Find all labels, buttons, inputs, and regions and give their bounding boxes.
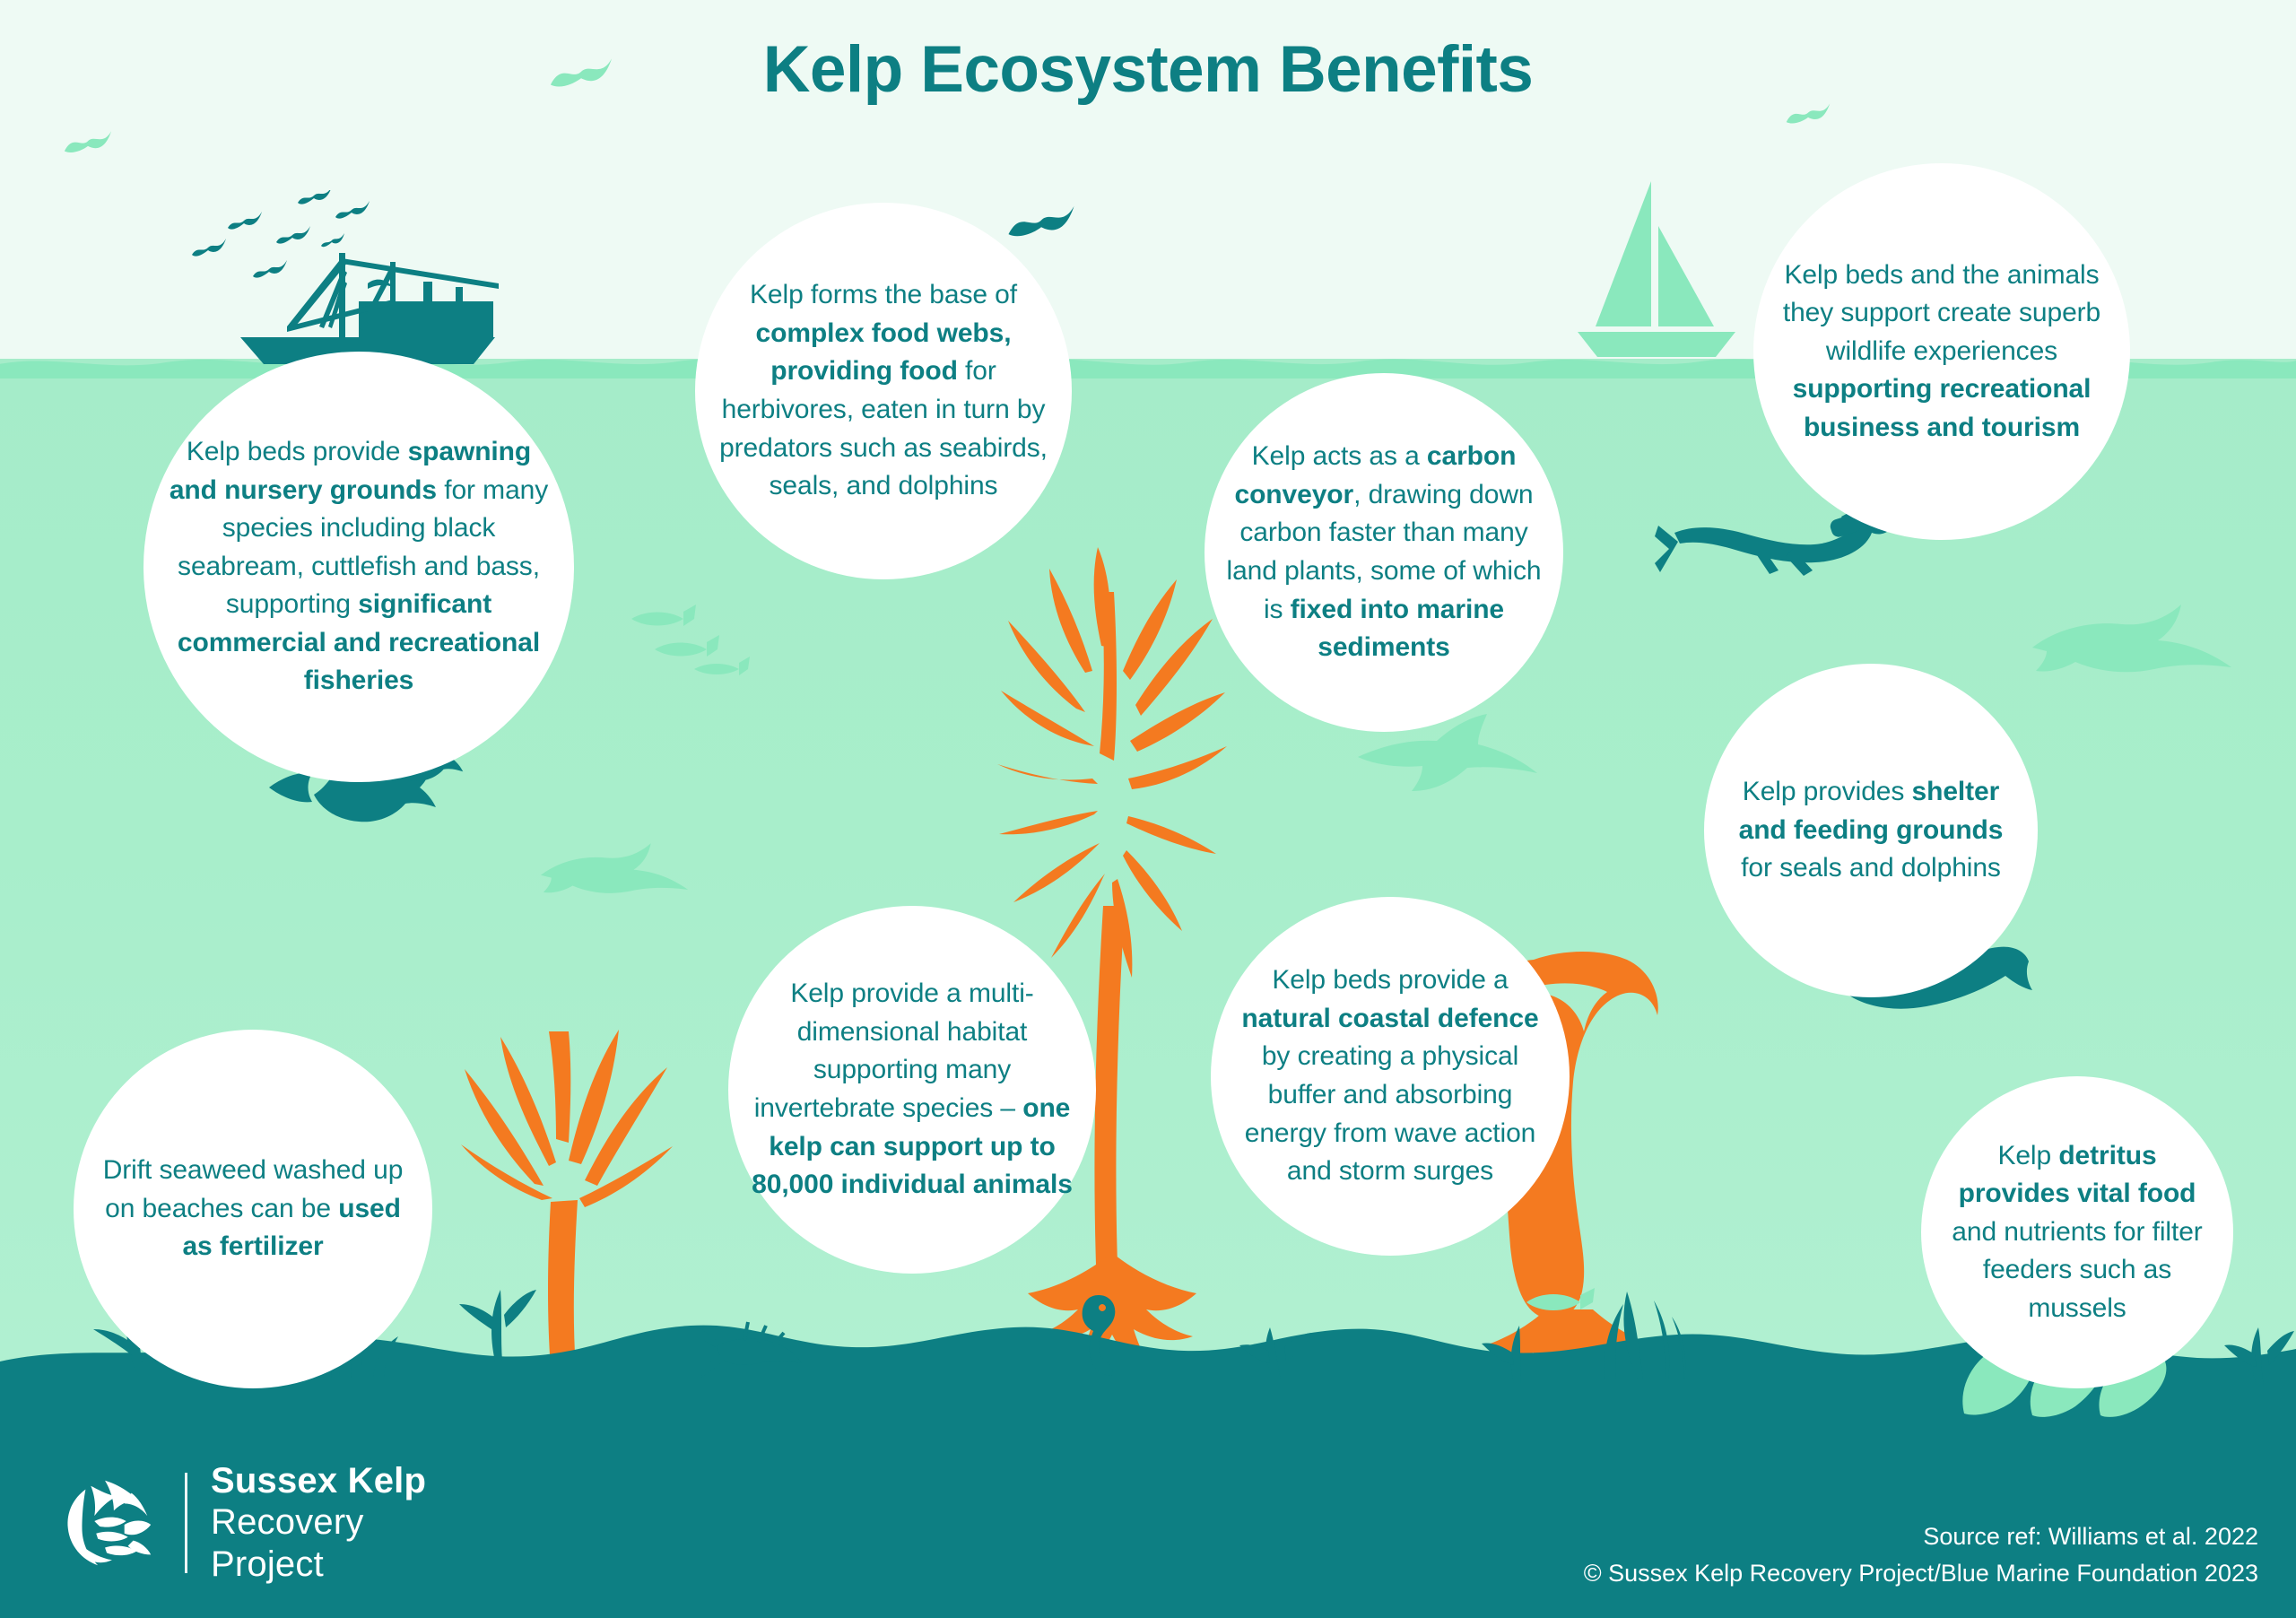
bubble-text: Kelp provide a multi-dimensional habitat… [750, 975, 1074, 1205]
bubble-text: Kelp provides shelter and feeding ground… [1726, 773, 2016, 888]
bubble-shelter-feeding: Kelp provides shelter and feeding ground… [1704, 664, 2038, 997]
bubble-recreation-tourism: Kelp beds and the animals they support c… [1753, 163, 2130, 540]
brand-logo: Sussex Kelp Recovery Project [56, 1460, 426, 1585]
logo-line-1: Sussex Kelp [211, 1460, 426, 1501]
copyright: © Sussex Kelp Recovery Project/Blue Mari… [1584, 1555, 2258, 1592]
bubble-detritus-filter-feeders: Kelp detritus provides vital food and nu… [1921, 1076, 2233, 1388]
bubble-carbon-conveyor: Kelp acts as a carbon conveyor, drawing … [1205, 373, 1563, 732]
bubble-spawning-nursery: Kelp beds provide spawning and nursery g… [143, 352, 574, 782]
page-title: Kelp Ecosystem Benefits [0, 32, 2296, 107]
bubble-text: Kelp detritus provides vital food and nu… [1943, 1137, 2212, 1328]
bubble-text: Kelp beds provide spawning and nursery g… [165, 433, 552, 700]
bubble-text: Kelp forms the base of complex food webs… [717, 276, 1050, 506]
infographic-poster: Kelp Ecosystem Benefits [0, 0, 2296, 1618]
bubble-coastal-defence: Kelp beds provide a natural coastal defe… [1211, 897, 1570, 1256]
logo-line-3: Project [211, 1544, 426, 1585]
logo-line-2: Recovery [211, 1501, 426, 1543]
credits-block: Source ref: Williams et al. 2022 © Susse… [1584, 1518, 2258, 1591]
bubble-food-webs: Kelp forms the base of complex food webs… [695, 203, 1072, 579]
bubble-drift-seaweed: Drift seaweed washed up on beaches can b… [74, 1030, 432, 1388]
source-ref: Source ref: Williams et al. 2022 [1584, 1518, 2258, 1555]
kelp-circle-logo-icon [56, 1470, 161, 1576]
bubble-text: Kelp beds and the animals they support c… [1775, 257, 2109, 448]
bubble-text: Drift seaweed washed up on beaches can b… [95, 1152, 411, 1266]
bubble-text: Kelp beds provide a natural coastal defe… [1232, 961, 1548, 1191]
logo-divider [185, 1473, 187, 1573]
logo-wordmark: Sussex Kelp Recovery Project [211, 1460, 426, 1585]
bubble-text: Kelp acts as a carbon conveyor, drawing … [1226, 438, 1542, 667]
bubble-multidimensional-habitat: Kelp provide a multi-dimensional habitat… [728, 906, 1096, 1274]
